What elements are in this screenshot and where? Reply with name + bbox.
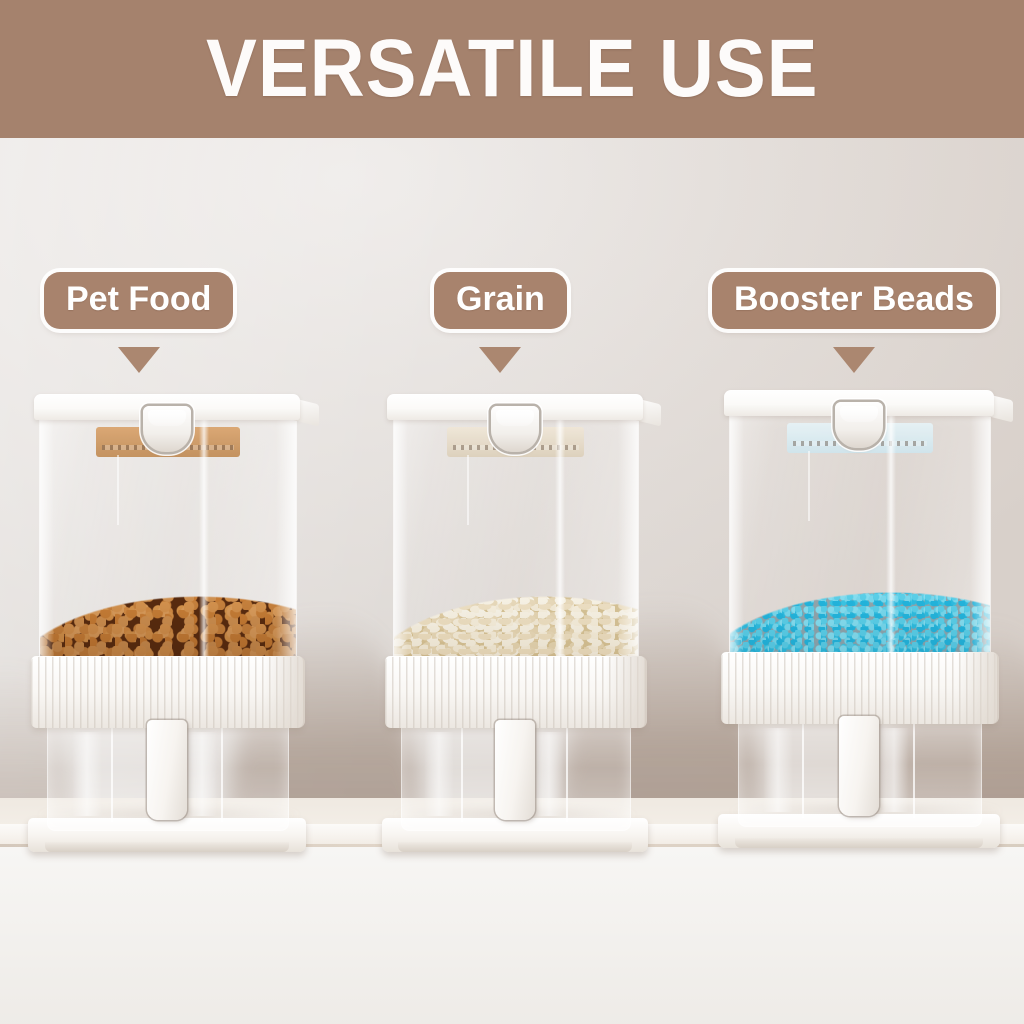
- header-banner: VERSATILE USE: [0, 0, 1024, 138]
- contents-shading: [394, 514, 639, 663]
- glass-edge-left: [394, 415, 408, 663]
- glass-edge-right: [970, 411, 990, 659]
- ribbed-band: [721, 652, 997, 724]
- band-side: [957, 652, 999, 724]
- contents-fill: [40, 514, 296, 663]
- tray-sheen: [187, 732, 217, 816]
- dispenser-grain[interactable]: [382, 394, 648, 854]
- tray-sheen: [879, 728, 909, 812]
- badge-booster-beads[interactable]: Booster Beads: [712, 272, 996, 373]
- dispenser-booster-beads[interactable]: [718, 390, 1000, 850]
- dispense-lever[interactable]: [147, 720, 187, 820]
- badge-grain[interactable]: Grain: [434, 272, 567, 373]
- dispense-lever[interactable]: [839, 716, 879, 816]
- band-side: [263, 656, 305, 728]
- tray-sheen: [763, 728, 793, 812]
- glass-edge-left: [40, 415, 54, 663]
- ribbed-band: [385, 656, 646, 728]
- shelf-front-panel: [0, 847, 1024, 1024]
- tray-divider: [461, 726, 463, 822]
- d-handle[interactable]: [835, 402, 883, 448]
- banner-title: VERSATILE USE: [206, 28, 818, 110]
- tray-divider: [802, 722, 804, 818]
- contents-fill: [730, 510, 989, 659]
- triangle-down-icon: [479, 347, 521, 373]
- badge-pet-food[interactable]: Pet Food: [44, 272, 233, 373]
- tray-divider: [111, 726, 113, 822]
- tray-sheen: [72, 732, 102, 816]
- contents-shading: [40, 514, 296, 663]
- d-handle[interactable]: [143, 406, 191, 452]
- contents-fill: [394, 514, 639, 663]
- dispense-lever[interactable]: [495, 720, 535, 820]
- badge-label: Booster Beads: [712, 272, 996, 329]
- tray-divider: [566, 726, 568, 822]
- glass-edge-left: [730, 411, 744, 659]
- contents-shading: [730, 510, 989, 659]
- tray-sheen: [424, 732, 454, 816]
- tray-sheen: [534, 732, 564, 816]
- badge-label: Pet Food: [44, 272, 233, 329]
- band-side: [605, 656, 647, 728]
- triangle-down-icon: [118, 347, 160, 373]
- dispenser-pet-food[interactable]: [28, 394, 306, 854]
- ribbed-band: [31, 656, 303, 728]
- tray-divider: [221, 726, 223, 822]
- product-marketing-image: VERSATILE USE: [0, 0, 1024, 1024]
- glass-edge-right: [618, 415, 638, 663]
- product-scene: Pet Food Grain Booster Beads: [0, 138, 1024, 1024]
- glass-edge-right: [276, 415, 296, 663]
- d-handle[interactable]: [491, 406, 539, 452]
- tray-divider: [913, 722, 915, 818]
- badge-label: Grain: [434, 272, 567, 329]
- triangle-down-icon: [833, 347, 875, 373]
